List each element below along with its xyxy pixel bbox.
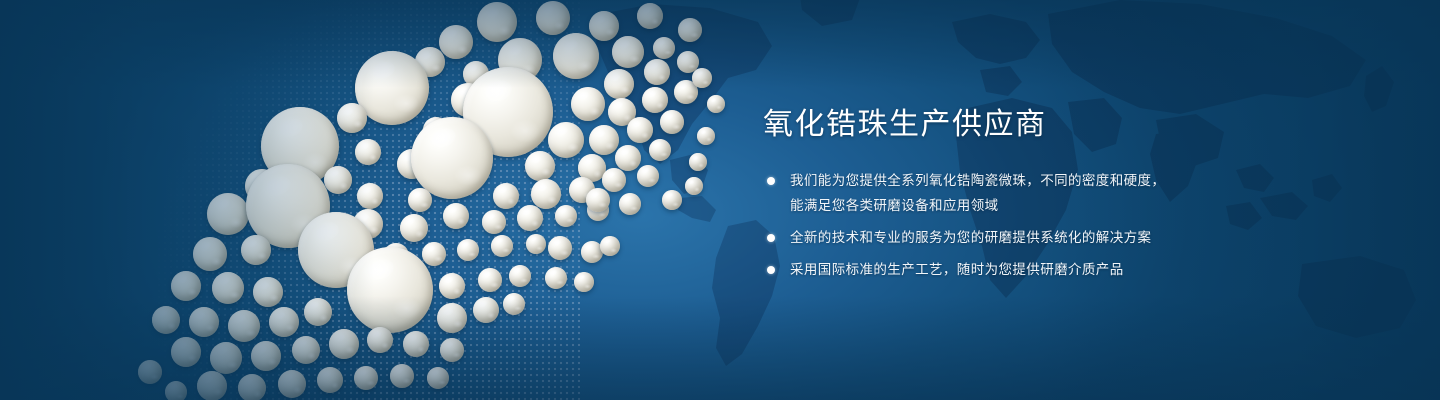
bullet-dot-icon [767, 177, 775, 185]
banner-copy: 氧化锆珠生产供应商 我们能为您提供全系列氧化锆陶瓷微珠，不同的密度和硬度， 能满… [763, 108, 1233, 282]
list-item: 我们能为您提供全系列氧化锆陶瓷微珠，不同的密度和硬度， 能满足您各类研磨设备和应… [763, 168, 1233, 218]
feature-list: 我们能为您提供全系列氧化锆陶瓷微珠，不同的密度和硬度， 能满足您各类研磨设备和应… [763, 168, 1233, 282]
list-item-line-1: 我们能为您提供全系列氧化锆陶瓷微珠，不同的密度和硬度， [790, 168, 1233, 193]
list-item-line-1: 采用国际标准的生产工艺，随时为您提供研磨介质产品 [790, 257, 1233, 282]
bullet-dot-icon [767, 266, 775, 274]
page-title: 氧化锆珠生产供应商 [763, 108, 1233, 142]
list-item-line-2: 能满足您各类研磨设备和应用领域 [790, 193, 1233, 218]
list-item-line-1: 全新的技术和专业的服务为您的研磨提供系统化的解决方案 [790, 225, 1233, 250]
hero-banner: 氧化锆珠生产供应商 我们能为您提供全系列氧化锆陶瓷微珠，不同的密度和硬度， 能满… [0, 0, 1440, 400]
list-item: 全新的技术和专业的服务为您的研磨提供系统化的解决方案 [763, 225, 1233, 250]
bullet-dot-icon [767, 234, 775, 242]
list-item: 采用国际标准的生产工艺，随时为您提供研磨介质产品 [763, 257, 1233, 282]
